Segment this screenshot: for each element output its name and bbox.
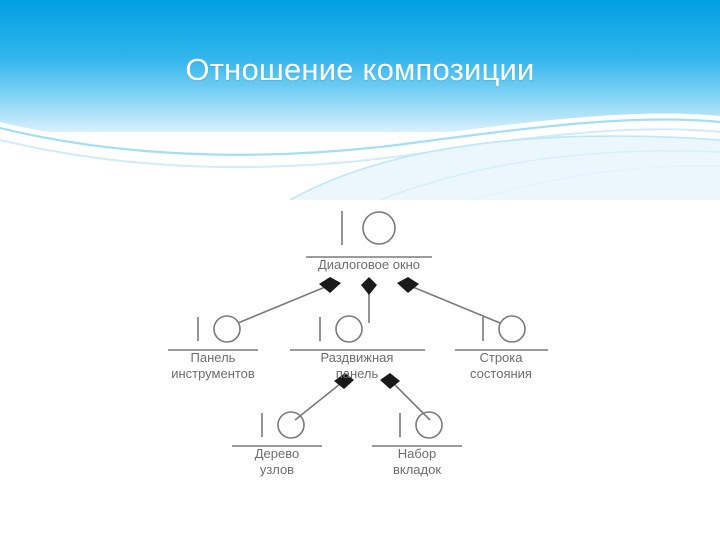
edge-dialog-toolbar — [238, 285, 330, 323]
tree-circle — [278, 412, 304, 438]
node-label-status-line1: Строка — [479, 350, 523, 365]
slide: Отношение композиции — [0, 0, 720, 540]
edge-slider-tree — [295, 380, 345, 420]
node-label-dialog: Диалоговое окно — [318, 257, 420, 272]
node-label-status-line2: состояния — [470, 366, 532, 381]
node-label-tabs-line1: Набор — [398, 446, 437, 461]
node-label-slider-line2: панель — [336, 366, 379, 381]
diamond-dialog-status — [397, 277, 419, 293]
diamond-dialog-slider — [361, 277, 377, 295]
page-title: Отношение композиции — [0, 52, 720, 88]
edge-slider-tabs — [390, 380, 430, 420]
node-label-toolbar-line1: Панель — [191, 350, 236, 365]
diamond-dialog-toolbar — [319, 277, 341, 293]
dialog-circle — [363, 212, 395, 244]
node-label-tree-line1: Дерево — [255, 446, 299, 461]
status-circle — [499, 316, 525, 342]
uml-composition-diagram: Диалоговое окно Панель инструментов Разд… — [0, 195, 720, 515]
edge-dialog-status — [408, 285, 500, 323]
node-label-toolbar-line2: инструментов — [171, 366, 255, 381]
toolbar-circle — [214, 316, 240, 342]
header-wave-graphic — [0, 0, 720, 200]
slider-circle — [336, 316, 362, 342]
node-label-tabs-line2: вкладок — [393, 462, 441, 477]
tabs-circle — [416, 412, 442, 438]
node-label-tree-line2: узлов — [260, 462, 294, 477]
header-banner — [0, 0, 720, 200]
node-label-slider-line1: Раздвижная — [321, 350, 394, 365]
